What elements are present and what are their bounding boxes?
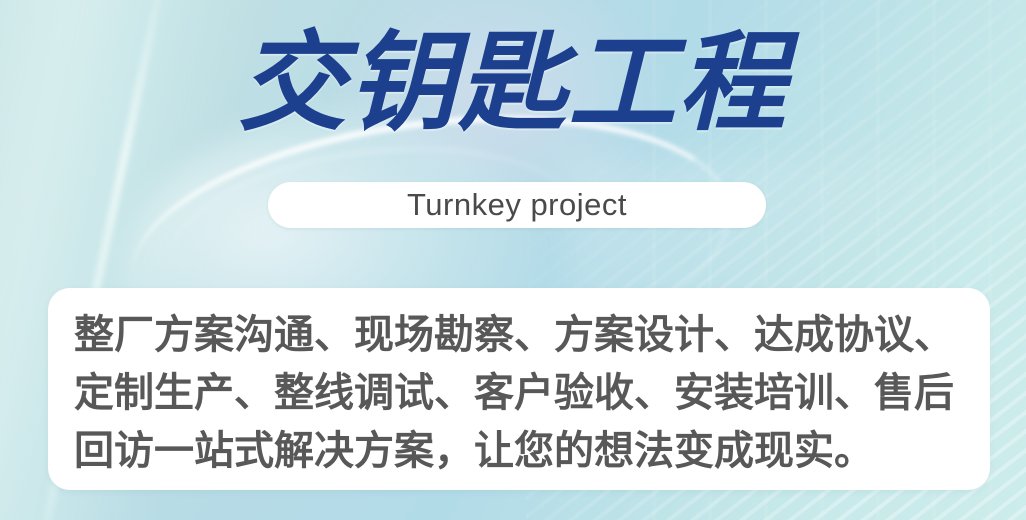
subtitle-text: Turnkey project — [407, 188, 627, 222]
subtitle-pill: Turnkey project — [268, 182, 766, 228]
headline-title: 交钥匙工程 — [0, 22, 1026, 146]
description-line-1: 整厂方案沟通、现场勘察、方案设计、达成协议、 — [74, 306, 964, 364]
description-card: 整厂方案沟通、现场勘察、方案设计、达成协议、 定制生产、整线调试、客户验收、安装… — [48, 288, 990, 490]
description-line-2: 定制生产、整线调试、客户验收、安装培训、售后 — [74, 364, 964, 422]
description-line-3: 回访一站式解决方案，让您的想法变成现实。 — [74, 422, 964, 480]
description-text: 整厂方案沟通、现场勘察、方案设计、达成协议、 定制生产、整线调试、客户验收、安装… — [74, 306, 964, 480]
turnkey-project-banner: 交钥匙工程 Turnkey project 整厂方案沟通、现场勘察、方案设计、达… — [0, 0, 1026, 520]
